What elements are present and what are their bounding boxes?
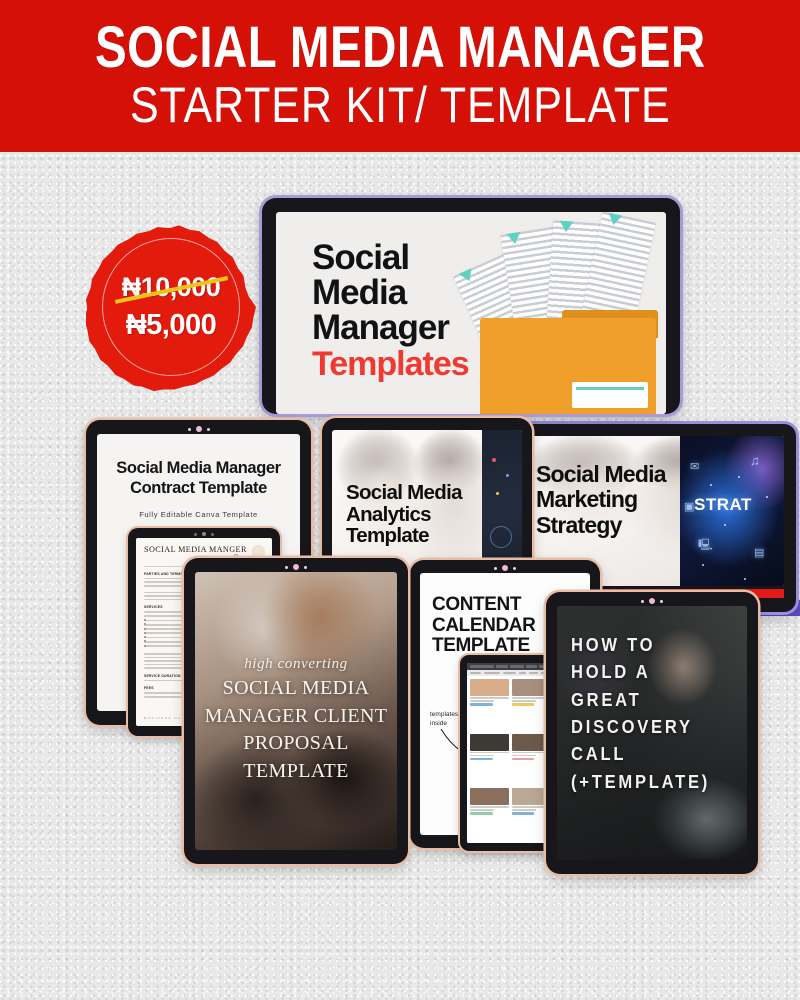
card-thumbnail [470, 734, 509, 751]
calendar-card[interactable] [470, 788, 509, 840]
camera-notch [494, 565, 516, 571]
proposal-bezel: high converting SOCIAL MEDIA MANAGER CLI… [184, 558, 408, 864]
card-tag-chip [470, 703, 493, 706]
discovery-line-4: DISCOVERY [571, 714, 724, 741]
folder-paper [572, 382, 648, 408]
proposal-line-4: TEMPLATE [201, 760, 391, 784]
calendar-card[interactable] [512, 788, 551, 840]
price-badge: ₦10,000 ₦5,000 [86, 222, 256, 392]
strategy-line-1: Social Media [536, 462, 666, 487]
proposal-script-line: high converting [201, 656, 391, 673]
discovery-line-6: (+TEMPLATE) [571, 769, 724, 796]
seal-icon [252, 545, 265, 558]
calendar-line-3: TEMPLATE [432, 636, 535, 657]
proposal-line-3: PROPOSAL [201, 732, 391, 756]
header-title-line2: STARTER KIT/ TEMPLATE [130, 79, 671, 132]
card-tag-chip [512, 703, 535, 706]
old-price: ₦10,000 [122, 272, 221, 303]
card-thumbnail [470, 788, 509, 805]
contract-title-line2: Contract Template [97, 478, 300, 498]
calendar-copy: CONTENT CALENDAR TEMPLATE [432, 595, 535, 657]
document-icon: ▣ [684, 502, 694, 513]
header-title-line1: SOCIAL MEDIA MANAGER [95, 20, 706, 77]
discovery-line-5: CALL [571, 741, 724, 768]
calendar-card[interactable] [470, 679, 509, 731]
chat-icon: ▤ [754, 548, 764, 559]
main-laptop-copy: Social Media Manager Templates [312, 240, 469, 381]
discovery-copy: HOW TO HOLD A GREAT DISCOVERY CALL (+TEM… [571, 632, 737, 796]
main-line-2: Media [312, 275, 469, 310]
card-thumbnail [512, 734, 551, 751]
calendar-line-2: CALENDAR [432, 616, 535, 637]
header-banner: SOCIAL MEDIA MANAGER STARTER KIT/ TEMPLA… [0, 0, 800, 152]
discovery-line-1: HOW TO [571, 632, 724, 659]
laptop-bezel: Social Media Manager Templates [262, 198, 680, 414]
strategy-copy: Social Media Marketing Strategy [536, 462, 666, 538]
card-tag-chip [470, 758, 493, 761]
folder-documents-illustration [466, 212, 666, 414]
main-line-1: Social [312, 240, 469, 275]
envelope-icon: ✉ [690, 462, 699, 473]
proposal-screen: high converting SOCIAL MEDIA MANAGER CLI… [195, 572, 397, 850]
strategy-tech-image: STRAT ✉ 🖳 ♫ ▤ ▣ [680, 436, 784, 586]
card-thumbnail [512, 788, 551, 805]
discovery-line-2: HOLD A [571, 659, 724, 686]
discovery-bezel: HOW TO HOLD A GREAT DISCOVERY CALL (+TEM… [546, 592, 758, 874]
card-thumbnail [512, 679, 551, 696]
analytics-copy: Social Media Analytics Template [346, 482, 462, 547]
strategy-line-2: Marketing [536, 487, 666, 512]
calendar-card[interactable] [470, 734, 509, 786]
music-note-icon: ♫ [750, 454, 760, 467]
tech-panel-word: STRAT [694, 495, 752, 515]
main-line-3: Manager [312, 310, 469, 345]
proposal-line-1: SOCIAL MEDIA [201, 677, 391, 701]
product-main-laptop: Social Media Manager Templates [262, 198, 680, 414]
card-tag-chip [512, 812, 535, 815]
main-line-4: Templates [312, 347, 469, 381]
card-tag-chip [512, 758, 535, 761]
card-thumbnail [470, 679, 509, 696]
contract-title-line1: Social Media Manager [97, 458, 300, 478]
camera-notch [641, 598, 663, 604]
laptop-screen: Social Media Manager Templates [276, 212, 666, 414]
calendar-line-1: CONTENT [432, 595, 535, 616]
calendar-card[interactable] [512, 734, 551, 786]
analytics-line-3: Template [346, 525, 462, 547]
analytics-line-2: Analytics [346, 504, 462, 526]
proposal-line-2: MANAGER CLIENT [201, 705, 391, 729]
card-tag-chip [470, 812, 493, 815]
badge-prices: ₦10,000 ₦5,000 [86, 222, 256, 392]
calendar-card[interactable] [512, 679, 551, 731]
camera-notch [188, 426, 210, 432]
proposal-copy: high converting SOCIAL MEDIA MANAGER CLI… [201, 656, 391, 783]
analytics-line-1: Social Media [346, 482, 462, 504]
contract-copy: Social Media Manager Contract Template F… [97, 458, 300, 519]
camera-notch [194, 532, 214, 536]
new-price: ₦5,000 [126, 309, 217, 342]
contract-subtitle: Fully Editable Canva Template [97, 510, 300, 519]
product-discovery-tablet: HOW TO HOLD A GREAT DISCOVERY CALL (+TEM… [546, 592, 758, 874]
discovery-line-3: GREAT [571, 687, 724, 714]
discovery-screen: HOW TO HOLD A GREAT DISCOVERY CALL (+TEM… [557, 606, 747, 860]
strategy-line-3: Strategy [536, 513, 666, 538]
camera-notch [285, 564, 307, 570]
product-proposal-tablet: high converting SOCIAL MEDIA MANAGER CLI… [184, 558, 408, 864]
laptop-icon: 🖳 [698, 540, 713, 551]
